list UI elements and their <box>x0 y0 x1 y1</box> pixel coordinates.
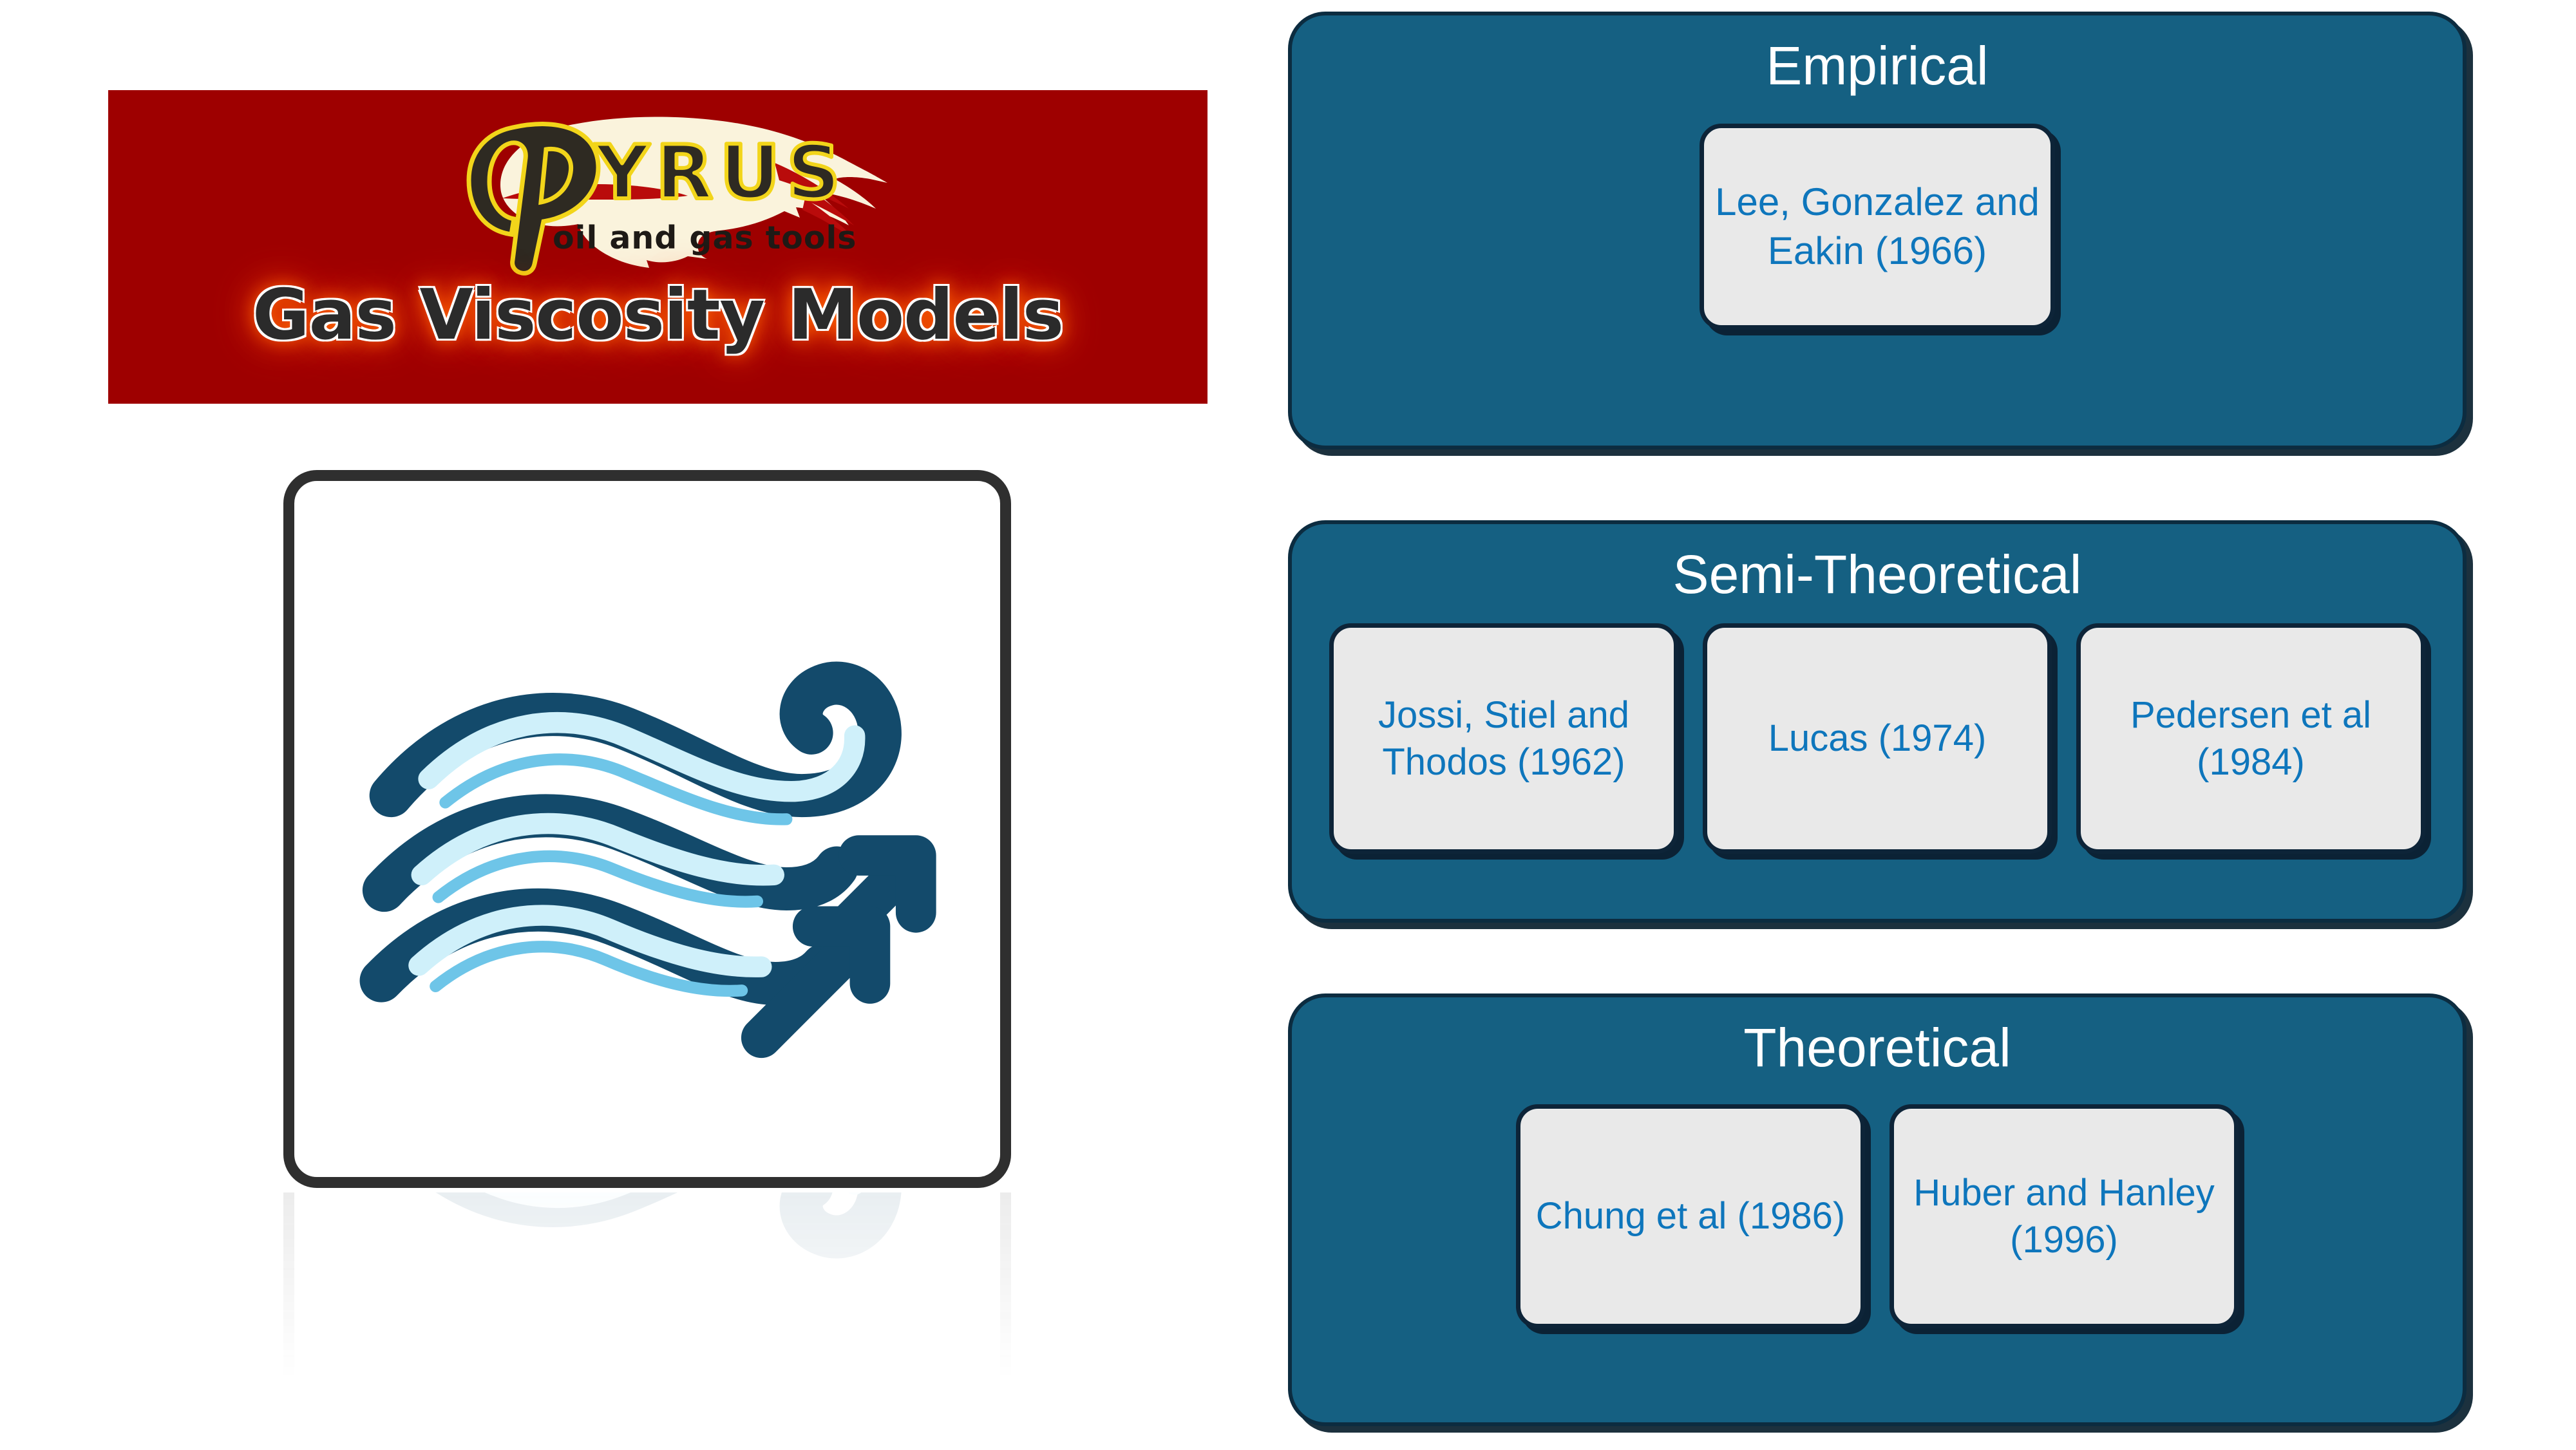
brand-banner: YRUS oil and gas tools Gas Viscosity Mod… <box>108 90 1207 404</box>
svg-text:oil and gas tools: oil and gas tools <box>553 220 857 256</box>
page-title: Gas Viscosity Models <box>108 281 1207 350</box>
wind-flow-icon-reflection <box>283 1192 1011 1450</box>
wind-flow-icon-tile <box>283 470 1011 1188</box>
panel-title-semi-theoretical: Semi-Theoretical <box>1292 524 2463 601</box>
model-card-row-empirical: Lee, Gonzalez and Eakin (1966) <box>1292 124 2463 330</box>
model-card[interactable]: Chung et al (1986) <box>1516 1104 1865 1328</box>
model-card[interactable]: Lee, Gonzalez and Eakin (1966) <box>1700 124 2055 330</box>
svg-text:YRUS: YRUS <box>594 129 847 216</box>
model-card[interactable]: Pedersen et al (1984) <box>2076 623 2425 854</box>
category-panel-semi-theoretical: Semi-Theoretical Jossi, Stiel and Thodos… <box>1288 520 2467 923</box>
panel-title-theoretical: Theoretical <box>1292 997 2463 1075</box>
wind-flow-icon <box>294 481 1000 1177</box>
model-card[interactable]: Lucas (1974) <box>1703 623 2052 854</box>
pyrus-logo-graphic: YRUS oil and gas tools <box>108 102 1207 276</box>
pyrus-logo: YRUS oil and gas tools <box>108 102 1207 276</box>
category-panel-empirical: Empirical Lee, Gonzalez and Eakin (1966) <box>1288 12 2467 449</box>
model-card[interactable]: Jossi, Stiel and Thodos (1962) <box>1329 623 1678 854</box>
model-card-row-semi-theoretical: Jossi, Stiel and Thodos (1962) Lucas (19… <box>1292 623 2463 854</box>
category-panel-theoretical: Theoretical Chung et al (1986) Huber and… <box>1288 993 2467 1426</box>
wind-flow-icon-mirror <box>294 1192 1000 1439</box>
model-card-row-theoretical: Chung et al (1986) Huber and Hanley (199… <box>1292 1104 2463 1328</box>
model-card[interactable]: Huber and Hanley (1996) <box>1889 1104 2239 1328</box>
panel-title-empirical: Empirical <box>1292 15 2463 93</box>
